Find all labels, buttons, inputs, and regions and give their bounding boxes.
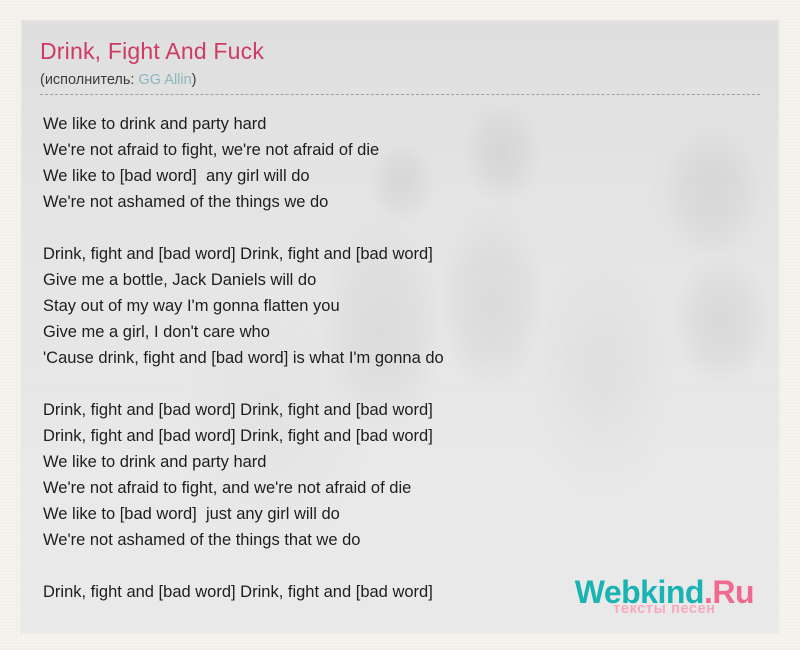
webkind-logo[interactable]: Webkind.Ru тексты песен	[575, 576, 754, 617]
page-background: Drink, Fight And Fuck (исполнитель: GG A…	[0, 0, 800, 650]
lyric-line: We like to drink and party hard	[43, 111, 760, 137]
lyric-line: Give me a bottle, Jack Daniels will do	[43, 267, 760, 293]
page-title: Drink, Fight And Fuck	[40, 37, 760, 65]
lyric-line: We like to [bad word] just any girl will…	[43, 501, 760, 527]
artist-link[interactable]: GG Allin	[138, 72, 191, 88]
artist-prefix-label: (исполнитель:	[40, 72, 138, 88]
lyrics-content-panel: Drink, Fight And Fuck (исполнитель: GG A…	[22, 21, 778, 632]
lyric-stanza-break	[43, 215, 760, 241]
lyric-line: We're not afraid to fight, we're not afr…	[43, 137, 760, 163]
lyric-line: We're not ashamed of the things we do	[43, 189, 760, 215]
content-inner: Drink, Fight And Fuck (исполнитель: GG A…	[22, 21, 778, 605]
lyric-line: We're not afraid to fight, and we're not…	[43, 475, 760, 501]
lyric-line: We like to [bad word] any girl will do	[43, 163, 760, 189]
lyric-line: Drink, fight and [bad word] Drink, fight…	[43, 241, 760, 267]
lyric-stanza-break	[43, 371, 760, 397]
artist-suffix-label: )	[192, 72, 197, 88]
artist-line: (исполнитель: GG Allin)	[40, 71, 760, 95]
lyric-line: Stay out of my way I'm gonna flatten you	[43, 293, 760, 319]
lyric-line: We like to drink and party hard	[43, 449, 760, 475]
lyric-line: Give me a girl, I don't care who	[43, 319, 760, 345]
lyric-line: Drink, fight and [bad word] Drink, fight…	[43, 397, 760, 423]
lyrics-text: We like to drink and party hardWe're not…	[40, 111, 760, 605]
lyric-line: Drink, fight and [bad word] Drink, fight…	[43, 423, 760, 449]
lyric-line: We're not ashamed of the things that we …	[43, 527, 760, 553]
lyric-line: 'Cause drink, fight and [bad word] is wh…	[43, 345, 760, 371]
